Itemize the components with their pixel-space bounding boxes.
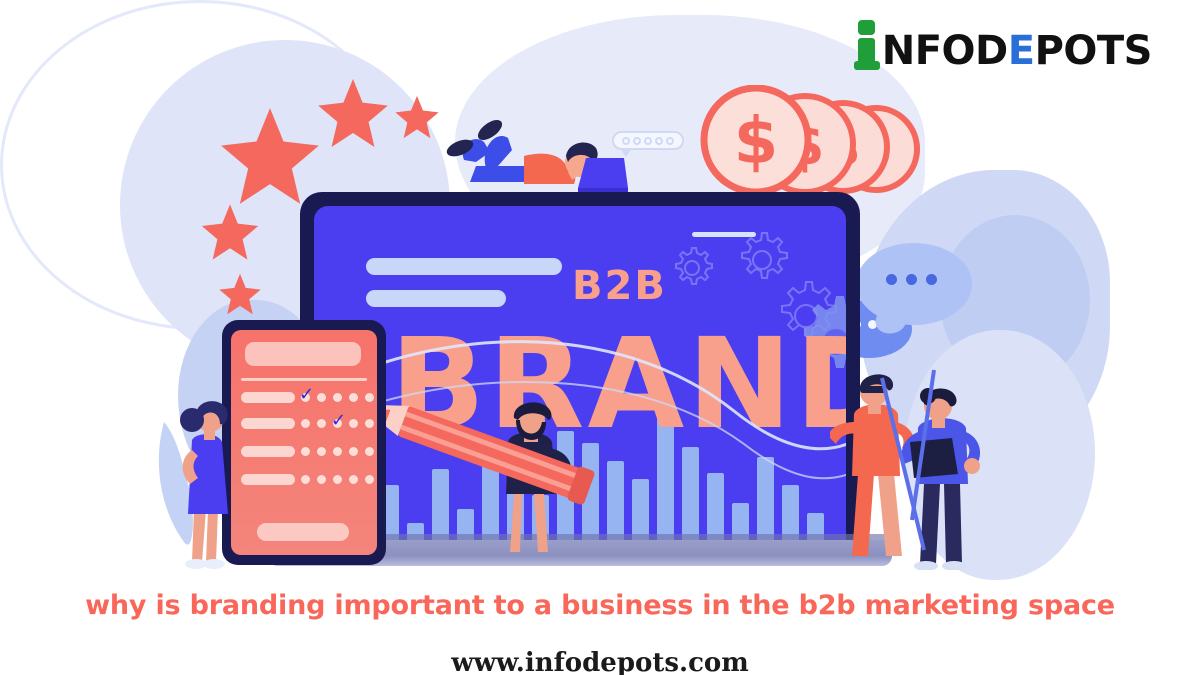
checklist-dot — [317, 393, 326, 402]
checklist-dot — [333, 475, 342, 484]
checklist-divider — [241, 378, 367, 381]
checkmark-icon: ✓ — [331, 412, 346, 430]
checklist-dot — [301, 447, 310, 456]
tablet-screen: ✓ ✓ — [231, 330, 377, 555]
svg-text:$: $ — [734, 105, 779, 179]
infodepots-logo[interactable]: NFODEPOTS — [854, 16, 1152, 70]
checklist-dot — [301, 419, 310, 428]
star-icon-mid-left — [200, 202, 260, 262]
pointer-lines — [862, 360, 982, 560]
bubble-dot — [926, 274, 937, 285]
checklist-row-label — [241, 446, 295, 457]
site-url[interactable]: www.infodepots.com — [0, 648, 1200, 675]
checklist-row-label — [241, 418, 295, 429]
logo-word-part1: NFOD — [882, 28, 1008, 74]
page-headline: why is branding important to a business … — [0, 590, 1200, 621]
checklist-footer-bar — [257, 523, 349, 541]
checklist-dot — [365, 447, 374, 456]
checklist-dot — [301, 475, 310, 484]
bubble-dot — [906, 274, 917, 285]
dollar-coins-icon: $ $ $ $ — [700, 85, 920, 200]
checklist-dot — [365, 419, 374, 428]
pencil-illustration — [356, 400, 606, 525]
speech-bubble-large-dots — [886, 274, 937, 285]
checkmark-icon: ✓ — [299, 386, 314, 404]
checklist-dot — [333, 393, 342, 402]
logo-wordmark: NFODEPOTS — [882, 32, 1152, 70]
checklist-dot — [333, 447, 342, 456]
star-icon-top — [316, 76, 390, 150]
rating-dot — [633, 137, 641, 145]
rating-dot — [644, 137, 652, 145]
person-woman-illustration — [158, 392, 244, 570]
checklist-dot — [317, 447, 326, 456]
logo-i-base — [854, 61, 880, 70]
rating-bubble-tail — [620, 148, 632, 157]
tablet-checklist-illustration: ✓ ✓ — [222, 320, 386, 565]
checklist-row — [241, 446, 367, 458]
checklist-dot — [365, 475, 374, 484]
logo-i-mark — [854, 20, 880, 70]
checklist-dot — [349, 447, 358, 456]
rating-dot — [655, 137, 663, 145]
logo-word-accent: E — [1008, 28, 1035, 74]
person-on-laptop-illustration — [428, 108, 628, 200]
checklist-row — [241, 418, 367, 430]
rating-dot — [622, 137, 630, 145]
logo-i-dot — [858, 20, 875, 35]
checklist-header-bar — [245, 342, 361, 366]
logo-word-part2: POTS — [1035, 28, 1152, 74]
checklist-row-label — [241, 474, 295, 485]
rating-dot — [666, 137, 674, 145]
star-icon-large — [218, 104, 322, 208]
checklist-dot — [349, 393, 358, 402]
checklist-dot — [349, 419, 358, 428]
banner-canvas: $ $ $ $ — [0, 0, 1200, 675]
checklist-dot — [349, 475, 358, 484]
checklist-row-label — [241, 392, 295, 403]
star-icon-bottom-left — [218, 272, 262, 316]
checklist-dot — [317, 419, 326, 428]
checklist-dot — [365, 393, 374, 402]
checklist-dot — [317, 475, 326, 484]
checklist-row — [241, 474, 367, 486]
bubble-dot — [886, 274, 897, 285]
